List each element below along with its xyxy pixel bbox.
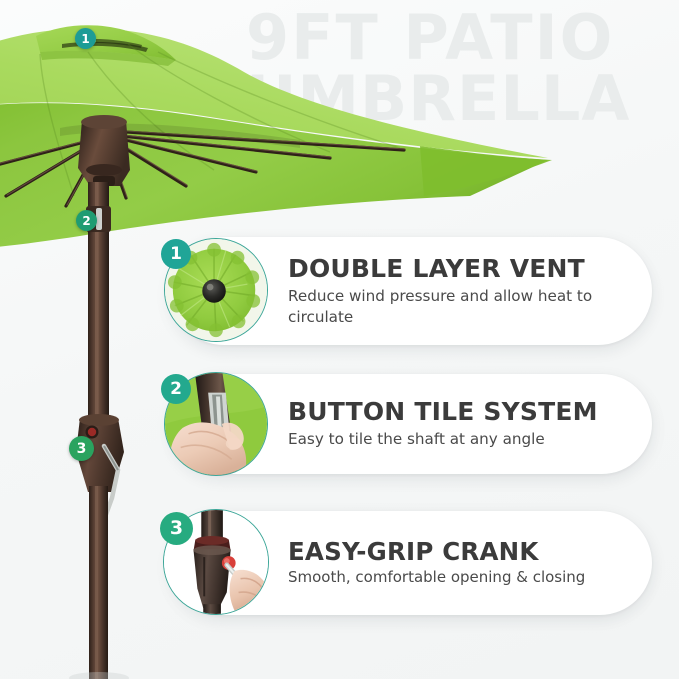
feature-card-3-title: EASY-GRIP CRANK: [288, 538, 585, 565]
feature-badge-2: 2: [161, 374, 191, 404]
photo-marker-3: 3: [69, 436, 94, 461]
feature-card-1-title: DOUBLE LAYER VENT: [288, 255, 618, 283]
watermark-line-2: UMBRELLA: [246, 69, 679, 130]
watermark-title: 9FT PATIO UMBRELLA: [246, 8, 679, 130]
infographic-canvas: 9FT PATIO UMBRELLA: [0, 0, 679, 679]
photo-marker-2: 2: [76, 210, 97, 231]
feature-badge-3: 3: [160, 512, 193, 545]
feature-card-3-description: Smooth, comfortable opening & closing: [288, 568, 585, 588]
feature-badge-1: 1: [161, 239, 191, 269]
feature-card-2-title: BUTTON TILE SYSTEM: [288, 398, 598, 426]
photo-marker-1: 1: [75, 28, 96, 49]
feature-card-2-description: Easy to tile the shaft at any angle: [288, 429, 598, 449]
feature-card-1-description: Reduce wind pressure and allow heat to c…: [288, 286, 618, 326]
watermark-line-1: 9FT PATIO: [246, 8, 679, 69]
